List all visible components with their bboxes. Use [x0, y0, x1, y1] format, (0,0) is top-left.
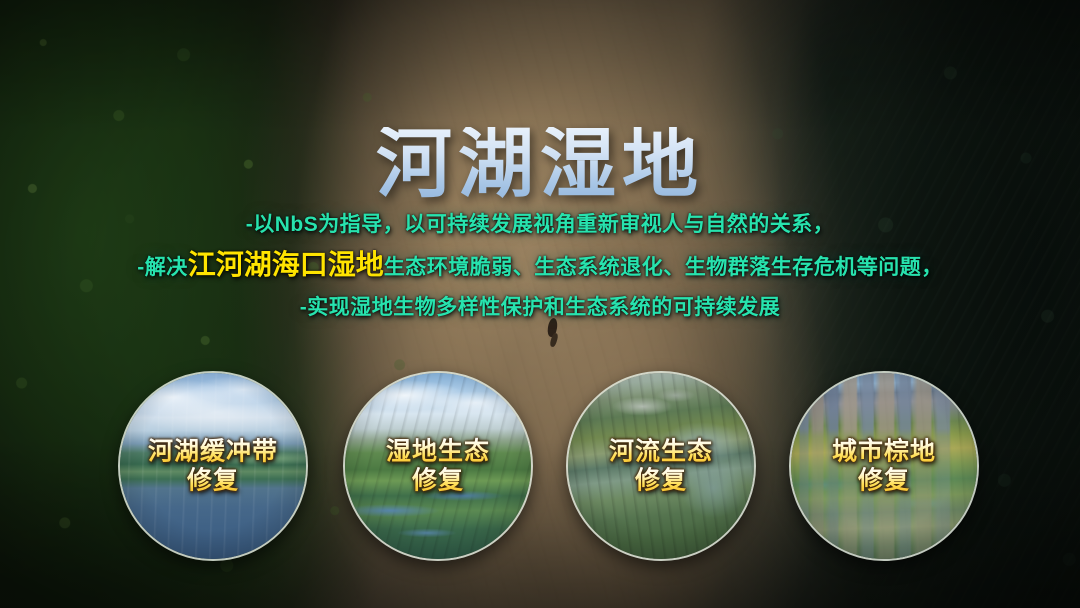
circle-label-buffer-zone: 河湖缓冲带 修复 — [120, 438, 306, 495]
circle-card-wetland-eco[interactable]: 湿地生态 修复 — [343, 371, 533, 561]
subtitle-line-3-text: -实现湿地生物多样性保护和生态系统的可持续发展 — [300, 296, 781, 319]
subtitle-line-2: -解决江河湖海口湿地生态环境脆弱、生态系统退化、生物群落生存危机等问题， — [0, 245, 1080, 288]
circle-label-line1: 城市棕地 — [791, 438, 977, 467]
circle-label-river-eco: 河流生态 修复 — [568, 438, 754, 495]
circle-label-line1: 湿地生态 — [345, 438, 531, 467]
circle-label-line2: 修复 — [120, 466, 306, 495]
subtitle-block: -以NbS为指导，以可持续发展视角重新审视人与自然的关系， -解决江河湖海口湿地… — [0, 205, 1080, 328]
subtitle-line-1-text: -以NbS为指导，以可持续发展视角重新审视人与自然的关系， — [246, 213, 835, 236]
circle-label-line2: 修复 — [345, 466, 531, 495]
circle-card-row: 河湖缓冲带 修复 湿地生态 修复 河流生态 修复 城市棕地 — [0, 371, 1080, 559]
circle-card-buffer-zone[interactable]: 河湖缓冲带 修复 — [118, 371, 308, 561]
subtitle-line-2-highlight: 江河湖海口湿地 — [188, 249, 384, 280]
slide-canvas: 河湖湿地 -以NbS为指导，以可持续发展视角重新审视人与自然的关系， -解决江河… — [0, 0, 1080, 608]
page-title: 河湖湿地 — [376, 127, 704, 203]
circle-label-line2: 修复 — [568, 466, 754, 495]
circle-label-urban-brownfield: 城市棕地 修复 — [791, 438, 977, 495]
subtitle-line-2-prefix: -解决 — [137, 256, 188, 279]
subtitle-line-2-suffix: 生态环境脆弱、生态系统退化、生物群落生存危机等问题， — [384, 256, 943, 279]
circle-card-river-eco[interactable]: 河流生态 修复 — [566, 371, 756, 561]
circle-label-line1: 河湖缓冲带 — [120, 438, 306, 467]
circle-label-wetland-eco: 湿地生态 修复 — [345, 438, 531, 495]
circle-card-urban-brownfield[interactable]: 城市棕地 修复 — [789, 371, 979, 561]
circle-label-line1: 河流生态 — [568, 438, 754, 467]
subtitle-line-3: -实现湿地生物多样性保护和生态系统的可持续发展 — [0, 288, 1080, 328]
circle-label-line2: 修复 — [791, 466, 977, 495]
subtitle-line-1: -以NbS为指导，以可持续发展视角重新审视人与自然的关系， — [0, 205, 1080, 245]
